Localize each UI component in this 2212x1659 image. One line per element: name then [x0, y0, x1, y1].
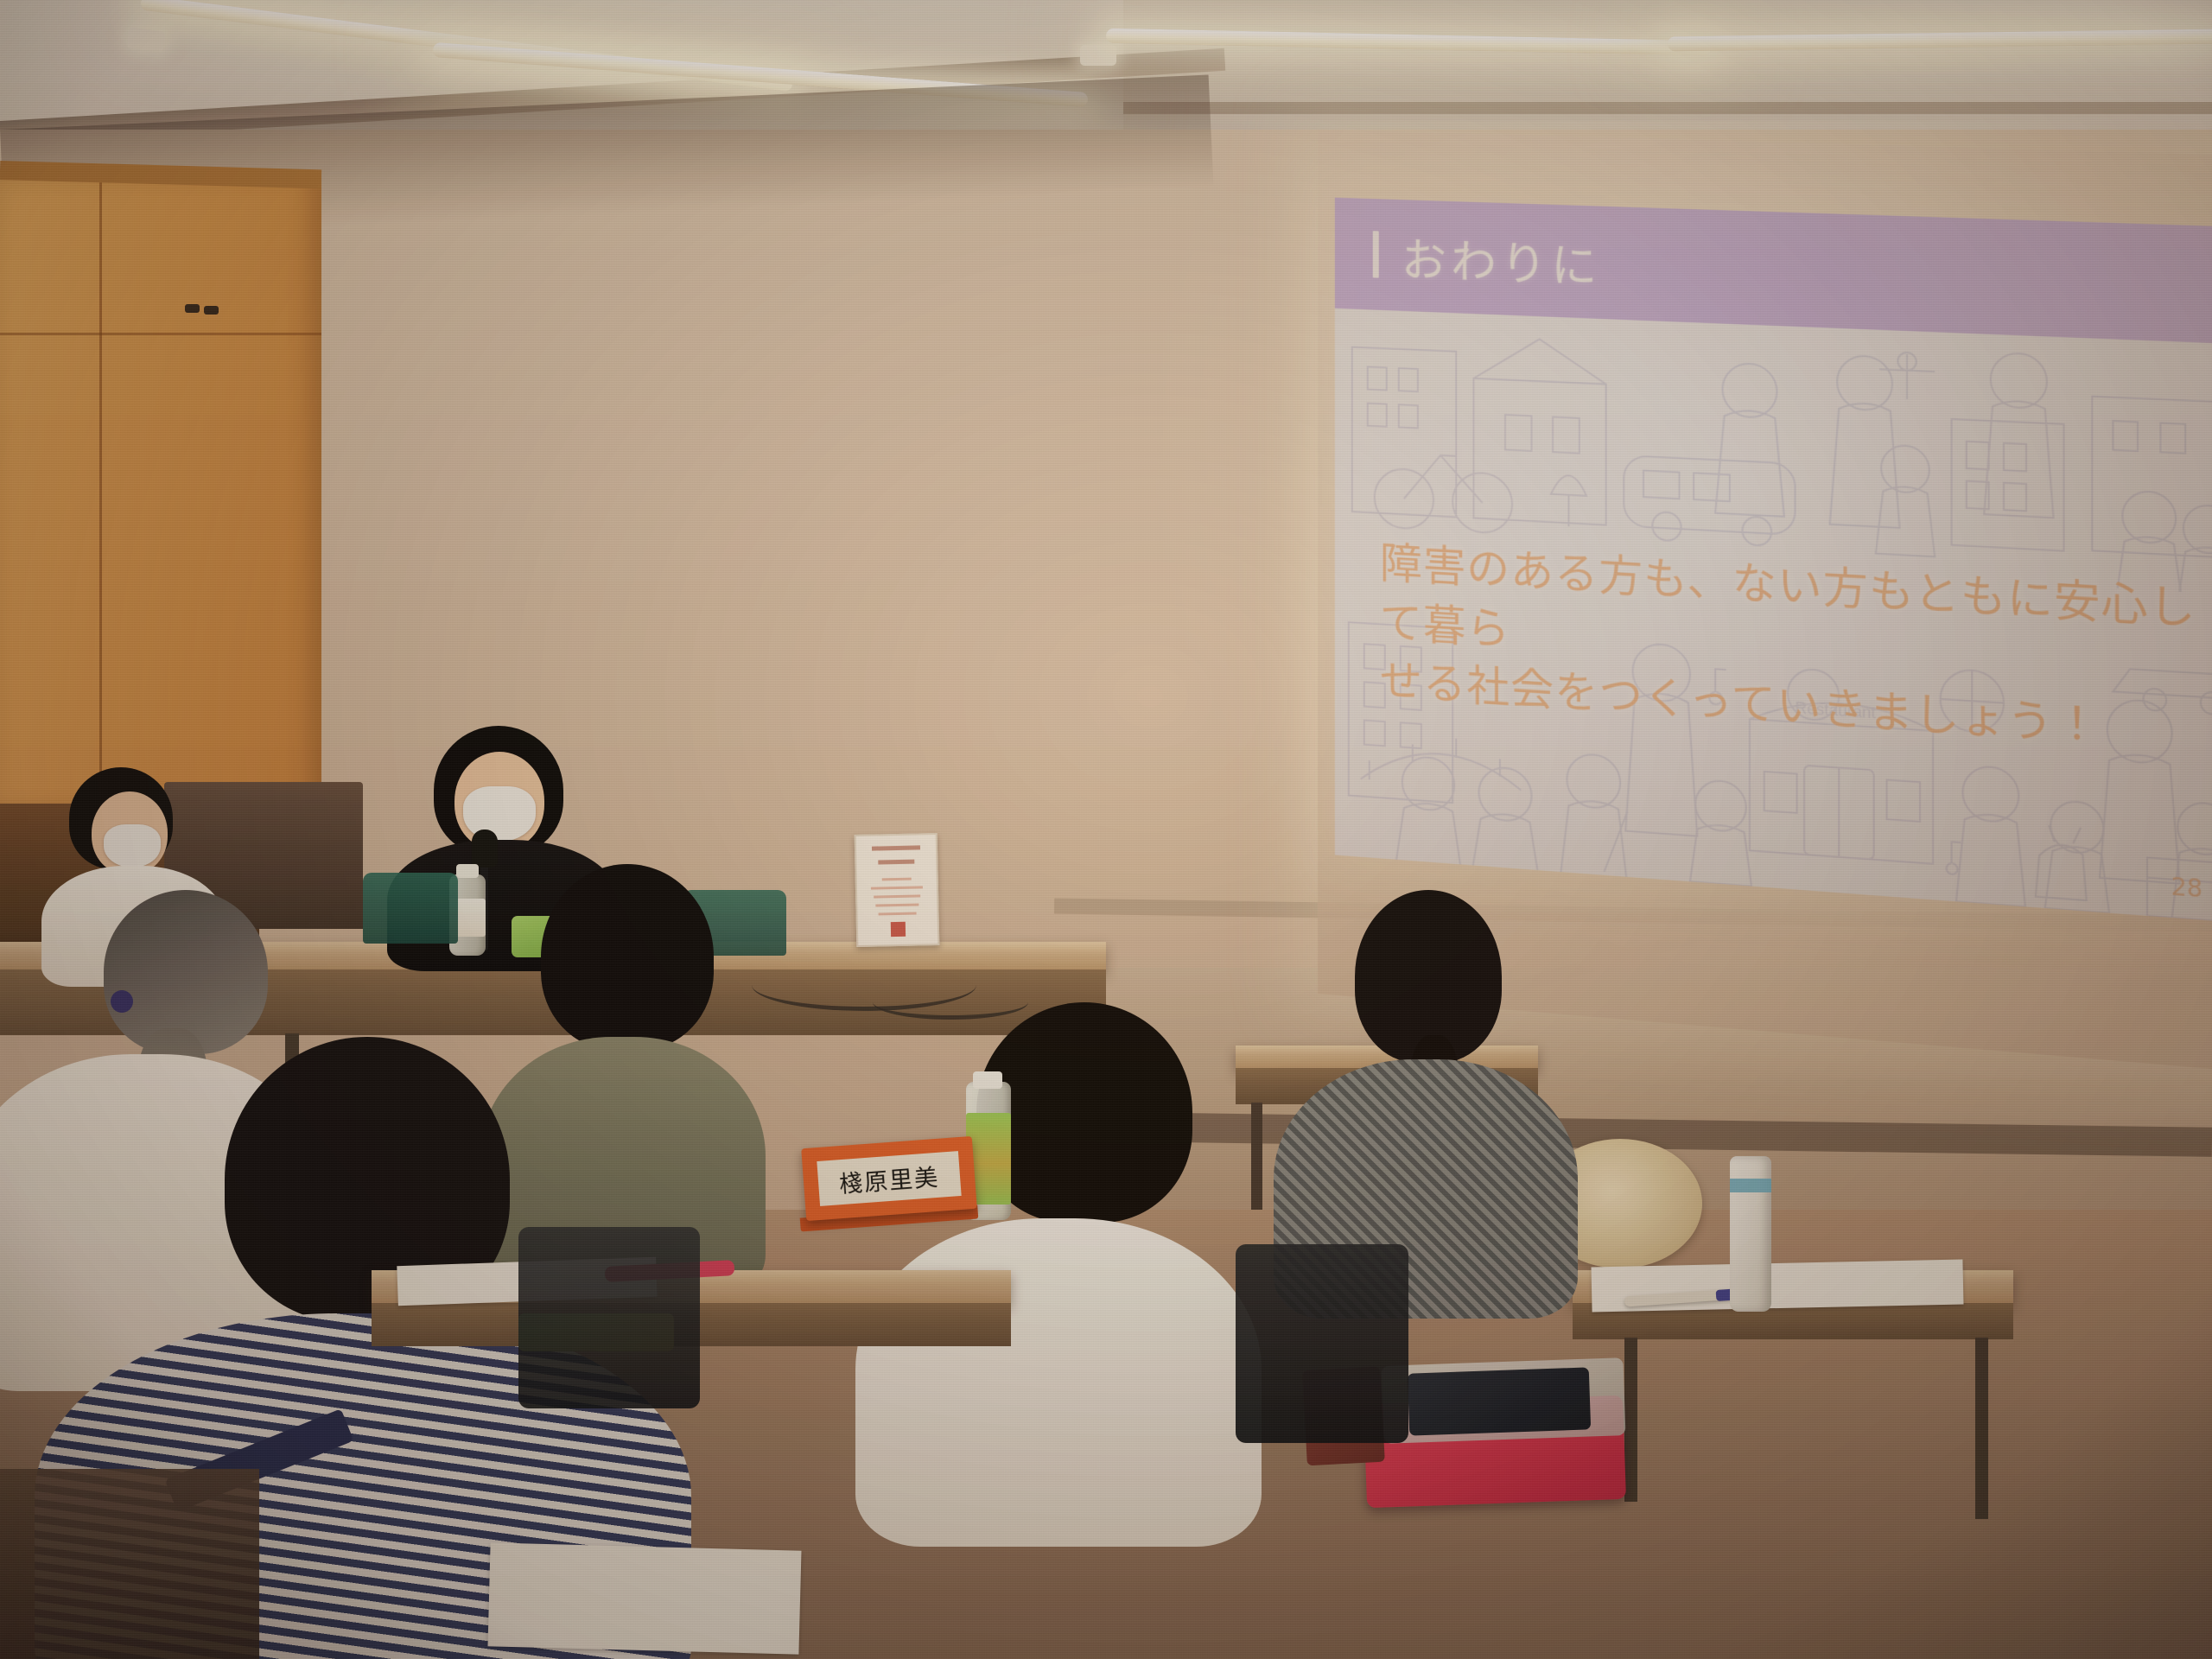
- placard-inner-panel: 棧原里美: [817, 1151, 961, 1206]
- seminar-room-photo: おわりに: [0, 0, 2212, 1659]
- light-fitting-cap: [1080, 45, 1116, 66]
- placard-name-text: 棧原里美: [838, 1158, 941, 1198]
- hair-tie-icon: [111, 990, 133, 1013]
- table-sign: [855, 833, 940, 947]
- partition-handle-icon[interactable]: [185, 304, 200, 313]
- audience-person-4: [864, 1002, 1253, 1521]
- handout-paper: [487, 1542, 801, 1654]
- slide-body: Restaurant: [1335, 308, 2212, 924]
- tumbler-icon: [1730, 1156, 1771, 1312]
- chair-back: [518, 1227, 700, 1408]
- red-stamp-icon: [890, 922, 905, 937]
- bottle-cap: [456, 864, 479, 878]
- slide-page-number: 28: [2171, 874, 2202, 903]
- name-placard: 棧原里美: [801, 1136, 977, 1221]
- dark-pouch: [1408, 1367, 1591, 1435]
- wood-partition-wall: [0, 173, 321, 812]
- partition-handle-icon[interactable]: [204, 306, 219, 315]
- audience-person-5: [1279, 890, 1573, 1305]
- presentation-slide: おわりに: [1335, 198, 2212, 924]
- slide-title: おわりに: [1402, 223, 1602, 296]
- chair: [363, 873, 458, 944]
- microphone-icon: [472, 829, 498, 868]
- tumbler-band: [1730, 1179, 1771, 1192]
- right-desk-leg: [1624, 1338, 1637, 1502]
- light-fitting-cap: [127, 28, 166, 53]
- right-desk-leg: [1975, 1338, 1988, 1519]
- bottle-cap: [973, 1071, 1002, 1089]
- audience-hair-3: [541, 864, 714, 1050]
- slide-title-accent-bar: [1373, 231, 1379, 277]
- audience-body-4: [855, 1218, 1262, 1547]
- chair-back: [1236, 1244, 1408, 1443]
- face-mask-icon: [104, 824, 161, 868]
- floor-foreground-shadow: [0, 1469, 259, 1659]
- ceiling-beam-right: [1123, 102, 2212, 114]
